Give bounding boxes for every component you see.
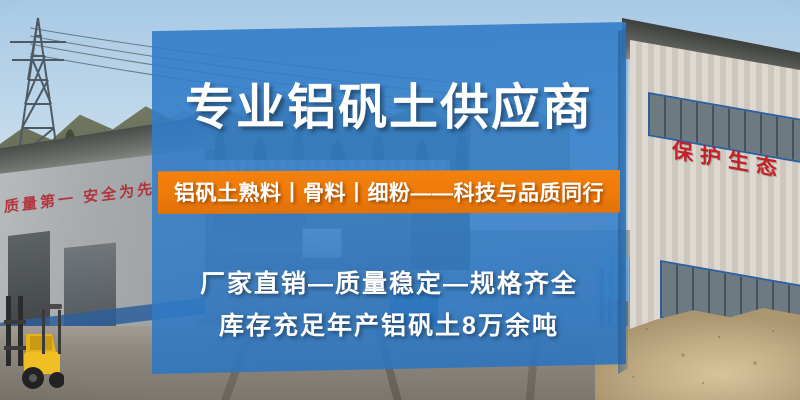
orange-tagline-text: 铝矾土熟料丨骨料丨细粉——科技与品质同行 xyxy=(158,170,620,214)
headline: 专业铝矾土供应商 xyxy=(152,83,626,134)
forklift-icon xyxy=(2,290,64,395)
promotional-banner: 质量第一 安全为先 保护生态 xyxy=(0,0,800,400)
subtitle-line-2: 库存充足年产铝矾土8万余吨 xyxy=(152,306,626,342)
subtitle-line-1: 厂家直销—质量稳定—规格齐全 xyxy=(152,264,626,300)
transmission-tower-icon xyxy=(8,8,78,158)
